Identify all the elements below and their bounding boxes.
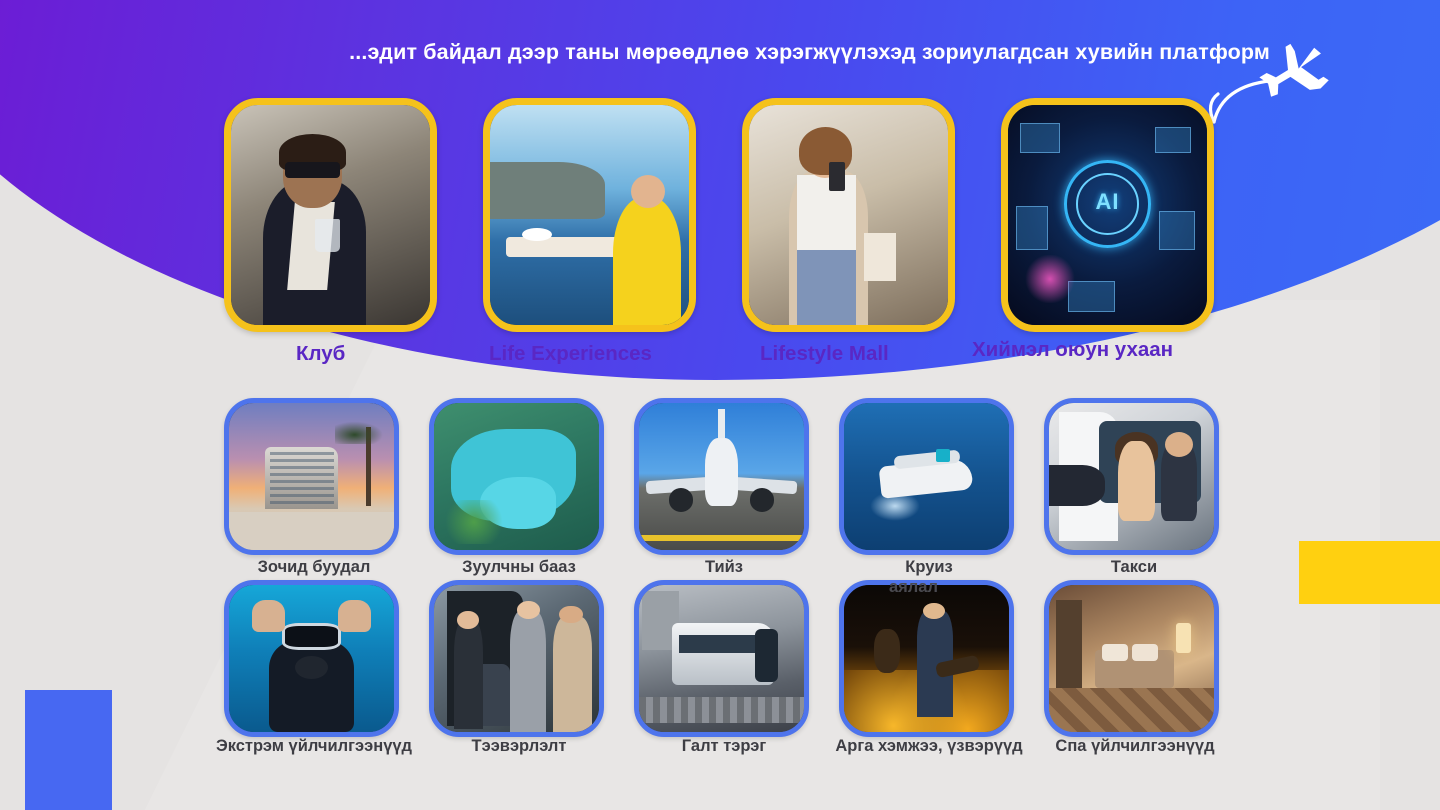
label-cruise: Круиз — [829, 557, 1029, 578]
chauffeur-loading-luggage-van-image — [434, 585, 599, 732]
label-events: Арга хэмжээ, үзвэрүүд — [824, 736, 1034, 757]
card-life-experiences[interactable] — [483, 98, 696, 332]
modern-train-at-platform-image — [639, 585, 804, 732]
label-life-experiences: Life Experiences — [489, 342, 652, 366]
top-category-labels: Клуб Life Experiences Lifestyle Mall Хий… — [0, 342, 1440, 376]
airplane-with-trail-icon — [1196, 36, 1346, 126]
label-extreme-services: Экстрэм үйлчилгээнүүд — [214, 736, 414, 757]
label-artificial-intelligence: Хиймэл оюун ухаан — [972, 338, 1173, 362]
woman-shopping-with-phone-image — [749, 105, 948, 325]
airplane-on-runway-image — [639, 403, 804, 550]
label-club: Клуб — [296, 342, 345, 366]
page-title-text: ...эдит байдал дээр таны мөрөөдлөө хэрэг… — [349, 40, 1270, 64]
taxi-passengers-in-car-image — [1049, 403, 1214, 550]
bottom-category-row — [224, 580, 1219, 737]
label-lifestyle-mall: Lifestyle Mall — [760, 342, 889, 366]
label-flight-ticket: Тийз — [624, 557, 824, 578]
card-club[interactable] — [224, 98, 437, 332]
card-lifestyle-mall[interactable] — [742, 98, 955, 332]
label-spa-services: Спа үйлчилгээнүүд — [1031, 736, 1239, 757]
card-transfer[interactable] — [429, 580, 604, 737]
ai-badge-label: AI — [1008, 189, 1207, 215]
card-extreme-services[interactable] — [224, 580, 399, 737]
aerial-resort-pools-image — [434, 403, 599, 550]
label-train: Галт тэрэг — [624, 736, 824, 757]
accent-rectangle-yellow — [1299, 541, 1440, 604]
label-hotel: Зочид буудал — [214, 557, 414, 578]
label-taxi: Такси — [1034, 557, 1234, 578]
cruise-ship-at-sea-image — [844, 403, 1009, 550]
card-hotel[interactable] — [224, 398, 399, 555]
card-taxi[interactable] — [1044, 398, 1219, 555]
top-category-row: AI — [224, 98, 1214, 332]
man-in-private-jet-with-drink-image — [231, 105, 430, 325]
card-spa-services[interactable] — [1044, 580, 1219, 737]
concert-performer-crowd-image — [844, 585, 1009, 732]
slide-canvas: ...эдит байдал дээр таны мөрөөдлөө хэрэг… — [0, 0, 1440, 810]
card-cruise[interactable] — [839, 398, 1014, 555]
card-events[interactable] — [839, 580, 1014, 737]
middle-category-row — [224, 398, 1219, 555]
beach-resort-hotel-sunset-image — [229, 403, 394, 550]
page-title: ...эдит байдал дээр таны мөрөөдлөө хэрэг… — [0, 40, 1290, 65]
ai-neural-network-visual-image: AI — [1008, 105, 1207, 325]
label-resort-camp: Зуулчны бааз — [419, 557, 619, 578]
card-train[interactable] — [634, 580, 809, 737]
scuba-diver-underwater-image — [229, 585, 394, 732]
accent-rectangle-blue — [25, 690, 112, 810]
label-transfer: Тээвэрлэлт — [419, 736, 619, 757]
card-resort-camp[interactable] — [429, 398, 604, 555]
hotel-spa-bedroom-image — [1049, 585, 1214, 732]
label-cruise-overflow: аялал — [889, 578, 938, 597]
card-artificial-intelligence[interactable]: AI — [1001, 98, 1214, 332]
card-flight-ticket[interactable] — [634, 398, 809, 555]
seaside-terrace-dining-view-image — [490, 105, 689, 325]
